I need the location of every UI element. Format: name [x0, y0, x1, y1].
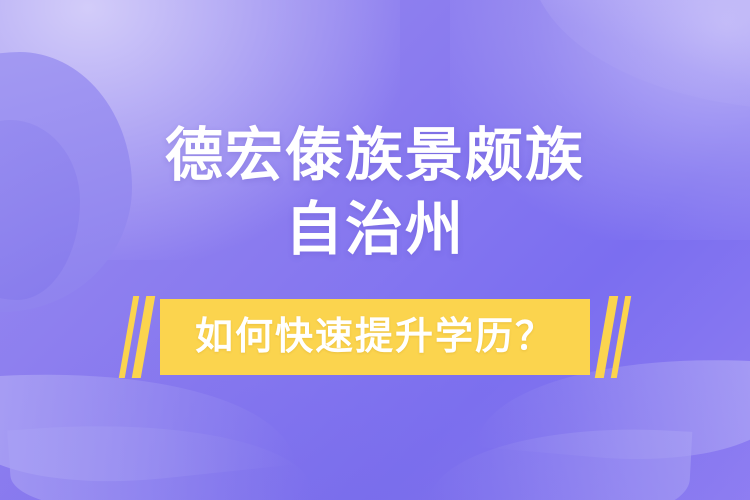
headline-line-2: 自治州: [25, 192, 725, 266]
subheadline-text: 如何快速提升学历？: [195, 313, 555, 359]
subheadline-highlight-box: 如何快速提升学历？: [160, 299, 590, 375]
accent-bars-right: [602, 296, 624, 378]
promo-banner: 德宏傣族景颇族 自治州 如何快速提升学历？: [0, 0, 750, 500]
banner-content: 德宏傣族景颇族 自治州 如何快速提升学历？: [0, 0, 750, 500]
accent-bars-left: [126, 296, 148, 378]
headline: 德宏傣族景颇族 自治州: [25, 118, 725, 266]
subheadline-group: 如何快速提升学历？: [126, 296, 624, 378]
headline-line-1: 德宏傣族景颇族: [25, 118, 725, 192]
